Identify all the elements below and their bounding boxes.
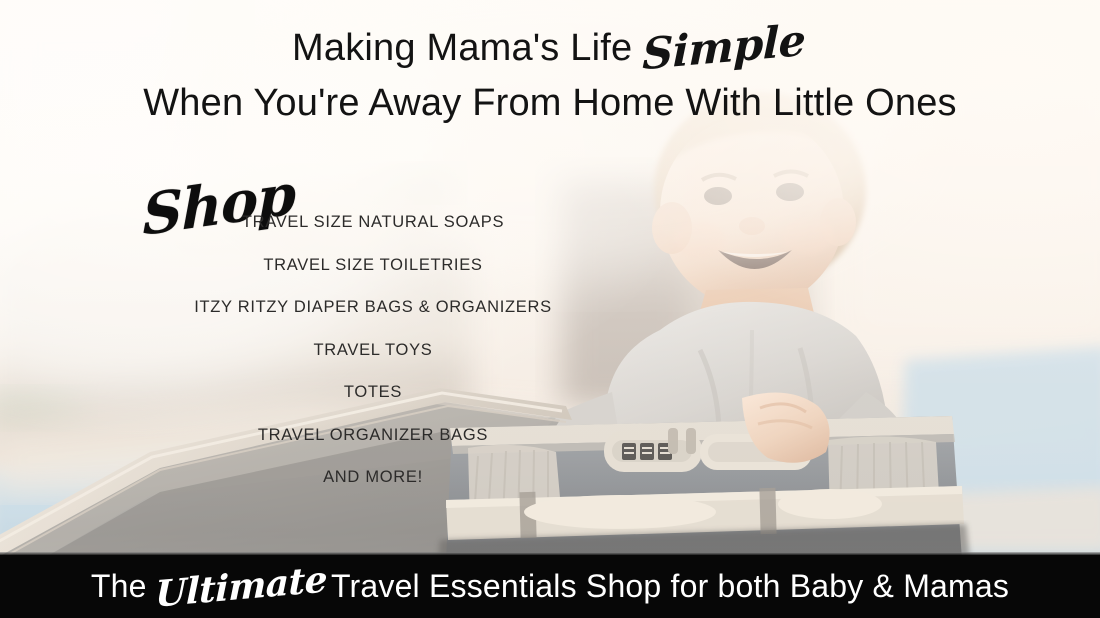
bottom-banner-suffix: Travel Essentials Shop for both Baby & M… [331, 568, 1009, 604]
bottom-banner-script-word: Ultimate [155, 561, 327, 612]
travel-essentials-banner: Making Mama's LifeSimple When You're Awa… [0, 0, 1100, 618]
bottom-banner-tagline: TheUltimateTravel Essentials Shop for bo… [91, 569, 1009, 605]
bottom-banner-prefix: The [91, 568, 147, 604]
background-photo [0, 0, 1100, 618]
bottom-banner: TheUltimateTravel Essentials Shop for bo… [0, 555, 1100, 618]
